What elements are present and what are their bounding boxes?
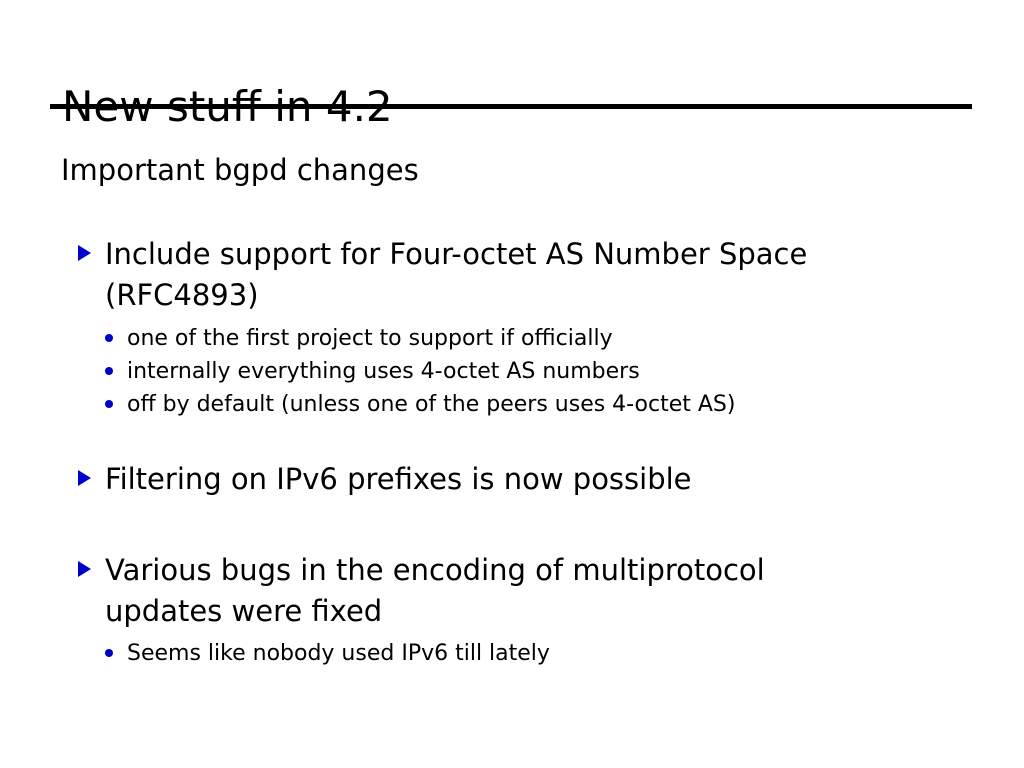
bullet-item: Various bugs in the encoding of multipro… [78, 550, 878, 632]
bullet-text: Include support for Four-octet AS Number… [105, 234, 958, 316]
bullet-item: Include support for Four-octet AS Number… [78, 234, 958, 316]
sub-bullet-text: Seems like nobody used IPv6 till lately [127, 637, 965, 670]
triangle-right-bullet-icon [78, 245, 91, 261]
sub-bullet-item: off by default (unless one of the peers … [105, 388, 965, 421]
bullet-text: Various bugs in the encoding of multipro… [105, 550, 878, 632]
presentation-slide: New stuff in 4.2 Important bgpd changes … [0, 0, 1024, 768]
dot-bullet-icon [105, 649, 113, 657]
dot-bullet-icon [105, 334, 113, 342]
dot-bullet-icon [105, 367, 113, 375]
sub-bullet-text: off by default (unless one of the peers … [127, 388, 965, 421]
dot-bullet-icon [105, 400, 113, 408]
triangle-right-bullet-icon [78, 470, 91, 486]
sub-bullet-item: Seems like nobody used IPv6 till lately [105, 637, 965, 670]
bullet-text: Filtering on IPv6 prefixes is now possib… [105, 459, 958, 500]
slide-body: Important bgpd changes Include support f… [0, 0, 1024, 768]
sub-bullet-item: one of the first project to support if o… [105, 322, 965, 355]
triangle-right-bullet-icon [78, 561, 91, 577]
sub-bullet-text: internally everything uses 4-octet AS nu… [127, 355, 965, 388]
slide-subtitle: Important bgpd changes [61, 151, 419, 189]
sub-bullet-item: internally everything uses 4-octet AS nu… [105, 355, 965, 388]
sub-bullet-text: one of the first project to support if o… [127, 322, 965, 355]
bullet-item: Filtering on IPv6 prefixes is now possib… [78, 459, 958, 500]
